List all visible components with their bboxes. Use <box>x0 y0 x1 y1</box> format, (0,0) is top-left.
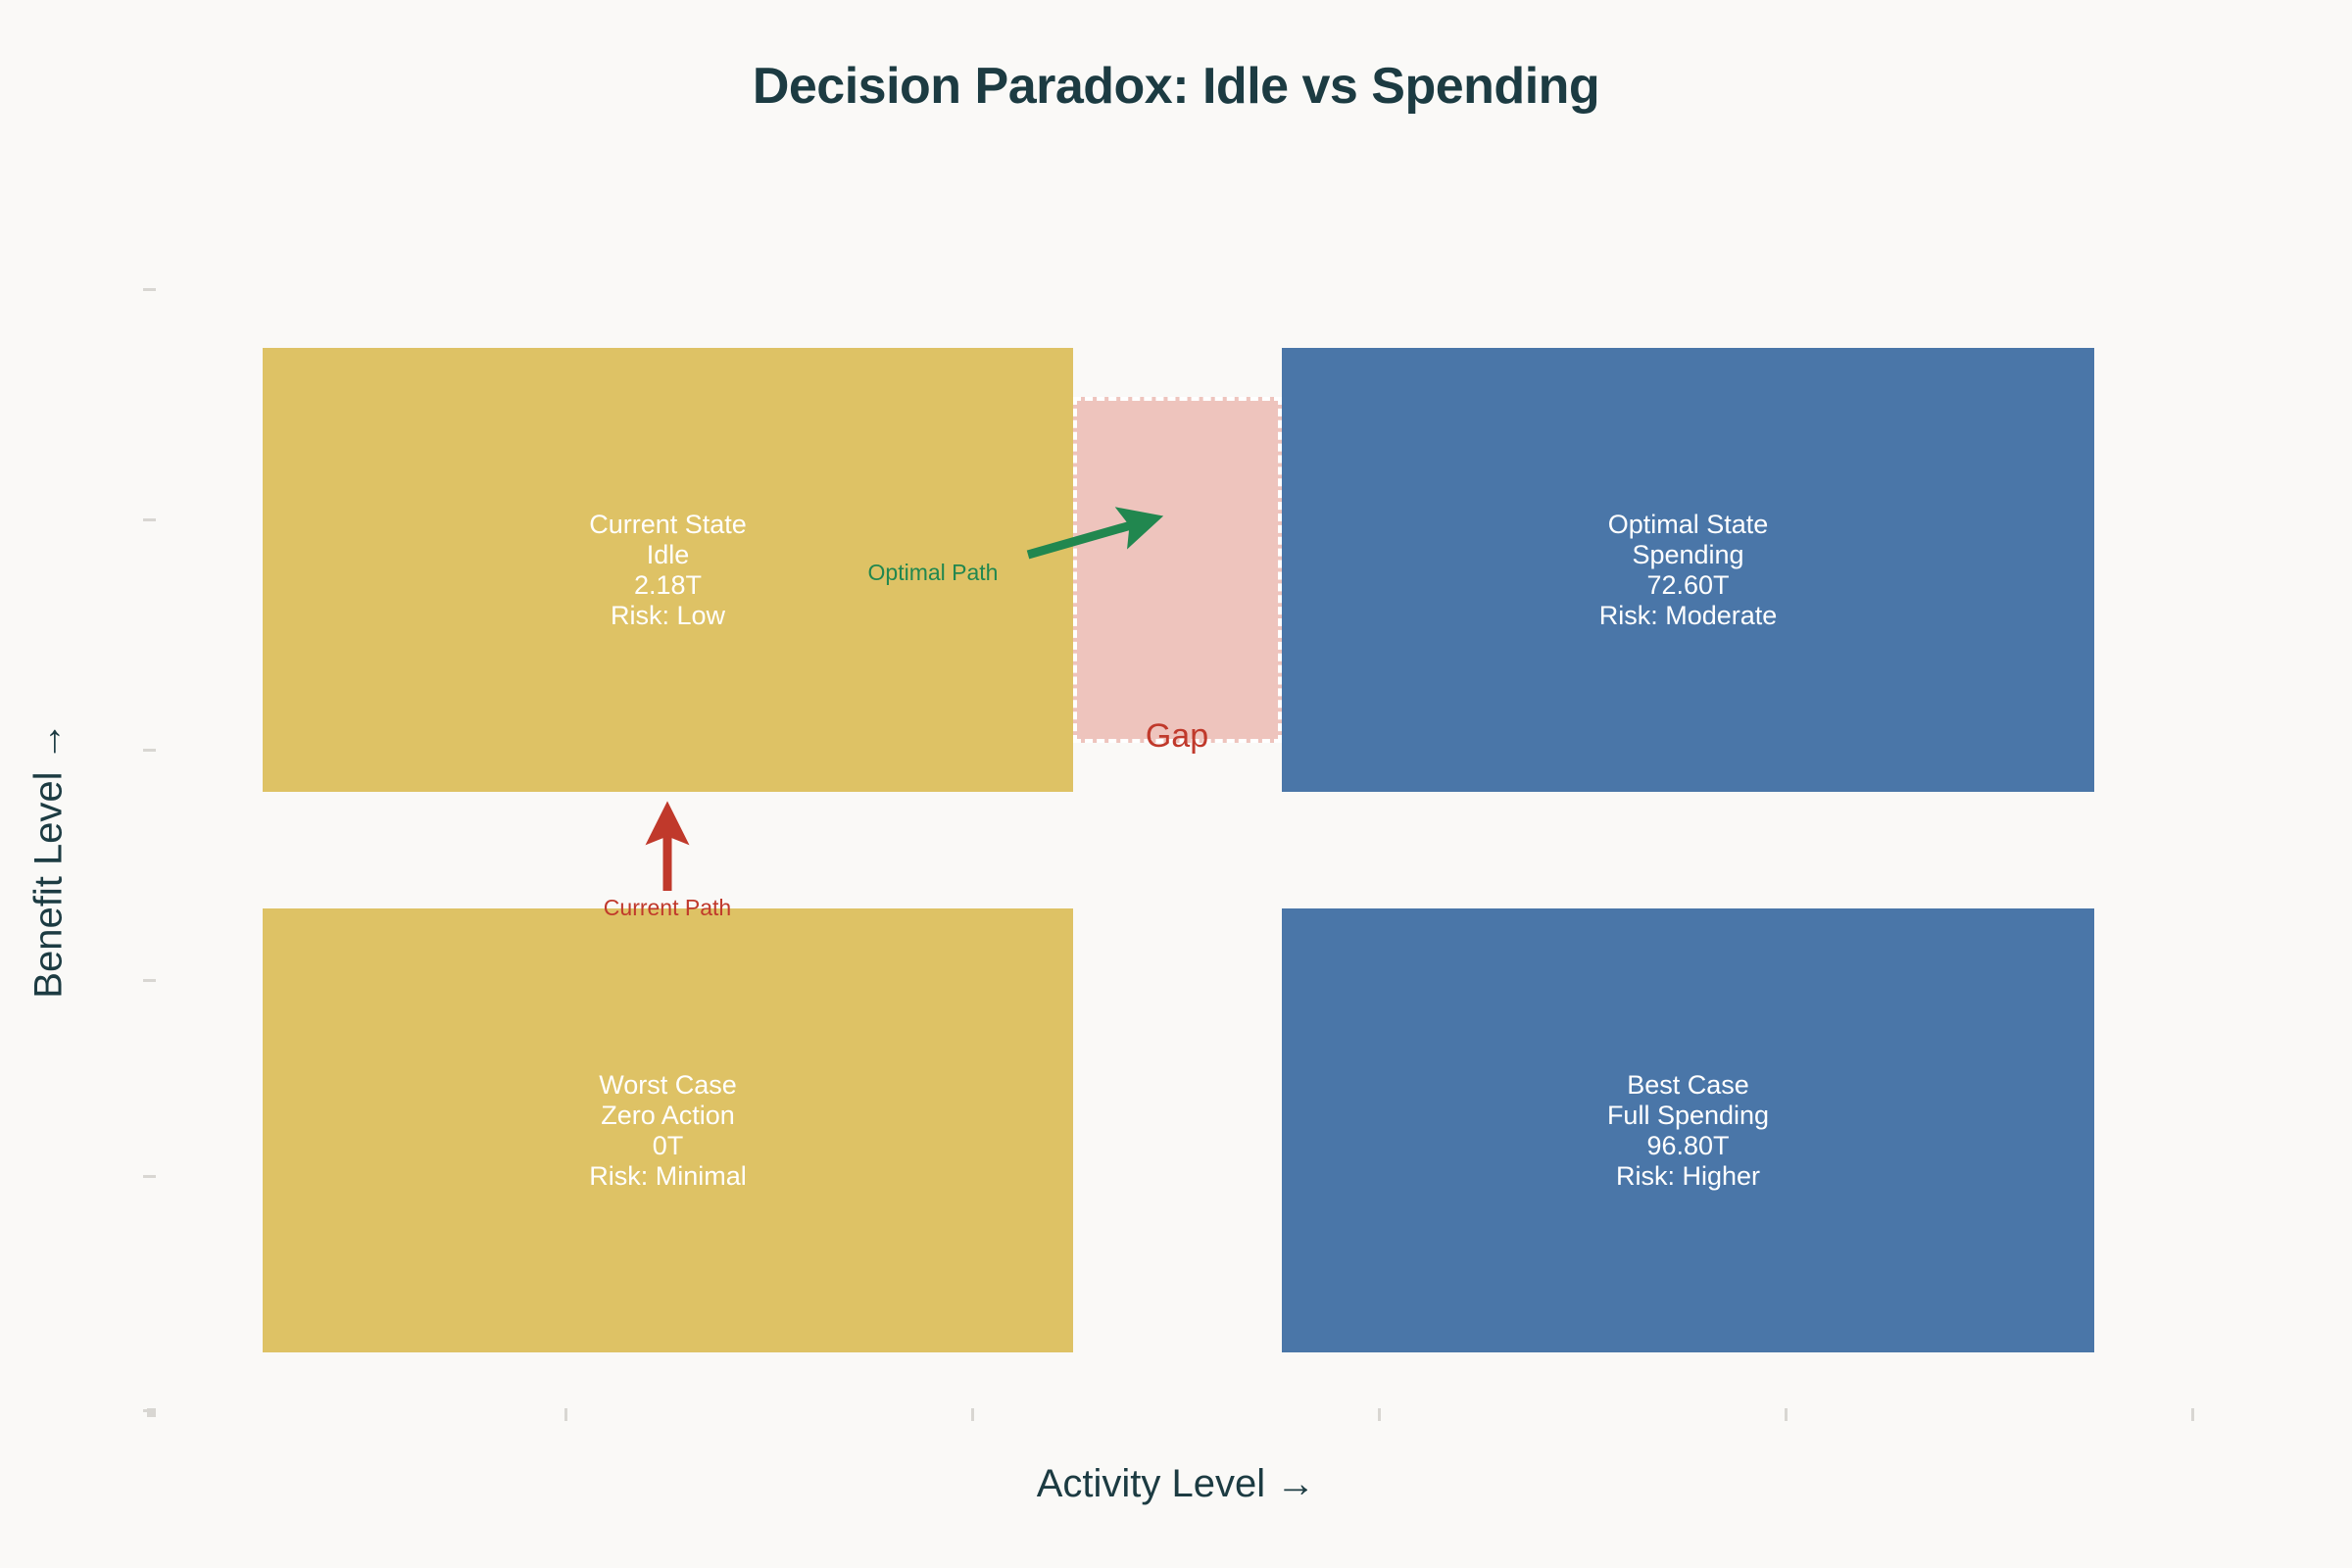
quadrant-title: Optimal State <box>1608 510 1769 540</box>
x-axis-tick <box>1785 1408 1788 1421</box>
chart-title: Decision Paradox: Idle vs Spending <box>0 57 2352 116</box>
y-axis-tick <box>143 979 156 982</box>
gap-region <box>1073 397 1282 743</box>
x-axis-tick <box>1378 1408 1381 1421</box>
optimal-path-label: Optimal Path <box>815 560 1051 586</box>
quadrant-title: Best Case <box>1627 1070 1749 1101</box>
quadrant-value: 0T <box>653 1131 684 1161</box>
quadrant-title: Current State <box>589 510 747 540</box>
current-path-label: Current Path <box>550 895 785 921</box>
quadrant-optimal-state[interactable]: Optimal State Spending 72.60T Risk: Mode… <box>1282 348 2094 792</box>
quadrant-mode: Idle <box>647 540 690 570</box>
quadrant-mode: Spending <box>1632 540 1743 570</box>
x-axis-tick <box>564 1408 567 1421</box>
quadrant-best-case[interactable]: Best Case Full Spending 96.80T Risk: Hig… <box>1282 908 2094 1352</box>
quadrant-risk: Risk: Minimal <box>589 1161 747 1192</box>
x-axis-tick <box>2191 1408 2194 1421</box>
y-axis-tick <box>143 1175 156 1178</box>
gap-label: Gap <box>1079 717 1275 756</box>
quadrant-worst-case[interactable]: Worst Case Zero Action 0T Risk: Minimal <box>263 908 1073 1352</box>
y-axis-tick <box>143 518 156 521</box>
y-axis-tick <box>143 749 156 752</box>
chart-canvas: Decision Paradox: Idle vs Spending Curre… <box>0 0 2352 1568</box>
quadrant-value: 96.80T <box>1646 1131 1729 1161</box>
x-axis-label: Activity Level → <box>0 1462 2352 1506</box>
quadrant-risk: Risk: Higher <box>1616 1161 1760 1192</box>
y-axis-label: Benefit Level → <box>27 664 72 1056</box>
quadrant-mode: Zero Action <box>601 1101 735 1131</box>
axis-origin-marker <box>147 1408 156 1417</box>
y-axis-tick <box>143 288 156 291</box>
quadrant-title: Worst Case <box>599 1070 737 1101</box>
x-axis-tick <box>971 1408 974 1421</box>
quadrant-mode: Full Spending <box>1607 1101 1769 1131</box>
quadrant-value: 2.18T <box>634 570 702 601</box>
quadrant-value: 72.60T <box>1646 570 1729 601</box>
quadrant-risk: Risk: Moderate <box>1599 601 1778 631</box>
quadrant-risk: Risk: Low <box>611 601 725 631</box>
